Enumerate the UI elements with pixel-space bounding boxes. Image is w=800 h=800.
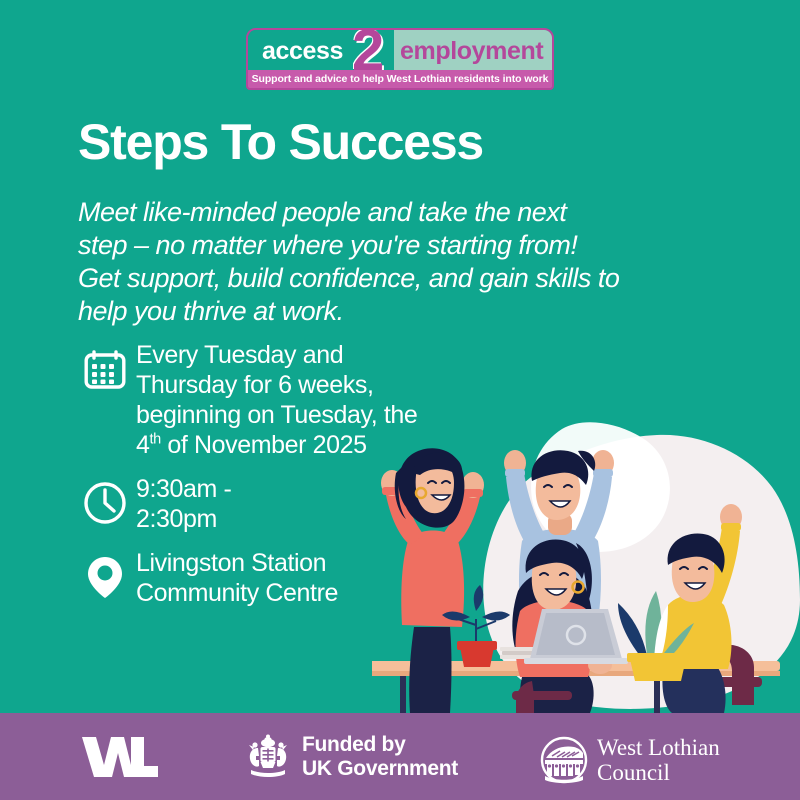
west-lothian-council-logo: West Lothian Council <box>540 735 720 785</box>
logo-frame: access 2 employment Support and advice t… <box>246 28 554 90</box>
logo-word-employment: employment <box>400 34 543 68</box>
access2employment-logo: access 2 employment Support and advice t… <box>246 28 554 90</box>
viaduct-emblem-icon <box>540 736 588 784</box>
event-details: Every Tuesday and Thursday for 6 weeks, … <box>74 340 544 622</box>
detail-text-time: 9:30am - 2:30pm <box>136 474 231 534</box>
detail-row-time: 9:30am - 2:30pm <box>74 474 544 534</box>
west-lothian-council-text: West Lothian Council <box>597 735 720 785</box>
time-line-2: 2:30pm <box>136 504 231 534</box>
poster-canvas: access 2 employment Support and advice t… <box>0 0 800 800</box>
date-line-2: Thursday for 6 weeks, <box>136 370 417 400</box>
date-line-4: 4th of November 2025 <box>136 430 417 460</box>
body-copy-line-1: Meet like-minded people and take the nex… <box>78 196 738 229</box>
detail-row-location: Livingston Station Community Centre <box>74 548 544 608</box>
royal-crest-icon <box>245 734 291 780</box>
uk-gov-line-2: UK Government <box>302 757 458 781</box>
uk-gov-line-1: Funded by <box>302 733 458 757</box>
wlc-line-1: West Lothian <box>597 735 720 760</box>
date-rest: of November 2025 <box>161 431 367 459</box>
uk-government-text: Funded by UK Government <box>302 733 458 781</box>
logo-word-access: access <box>262 34 343 68</box>
body-copy-line-2: step – no matter where you're starting f… <box>78 229 738 262</box>
uk-government-logo: Funded by UK Government <box>245 733 458 781</box>
wlc-line-2: Council <box>597 760 720 785</box>
detail-text-date: Every Tuesday and Thursday for 6 weeks, … <box>136 340 417 460</box>
clock-icon <box>74 474 136 526</box>
body-copy-line-4: help you thrive at work. <box>78 295 738 328</box>
logo-tagline: Support and advice to help West Lothian … <box>248 70 552 88</box>
date-line-1: Every Tuesday and <box>136 340 417 370</box>
location-pin-icon <box>74 548 136 600</box>
location-line-2: Community Centre <box>136 578 338 608</box>
location-line-1: Livingston Station <box>136 548 338 578</box>
date-number: 4 <box>136 431 150 459</box>
date-ordinal: th <box>150 432 161 448</box>
calendar-icon <box>74 340 136 392</box>
date-line-3: beginning on Tuesday, the <box>136 400 417 430</box>
detail-row-date: Every Tuesday and Thursday for 6 weeks, … <box>74 340 544 460</box>
detail-text-location: Livingston Station Community Centre <box>136 548 338 608</box>
page-title: Steps To Success <box>78 112 483 172</box>
wl-logo <box>80 735 158 784</box>
footer-bar: Funded by UK Government <box>0 713 800 800</box>
body-copy: Meet like-minded people and take the nex… <box>78 196 738 328</box>
wl-monogram-icon <box>80 735 158 779</box>
body-copy-line-3: Get support, build confidence, and gain … <box>78 262 738 295</box>
time-line-1: 9:30am - <box>136 474 231 504</box>
